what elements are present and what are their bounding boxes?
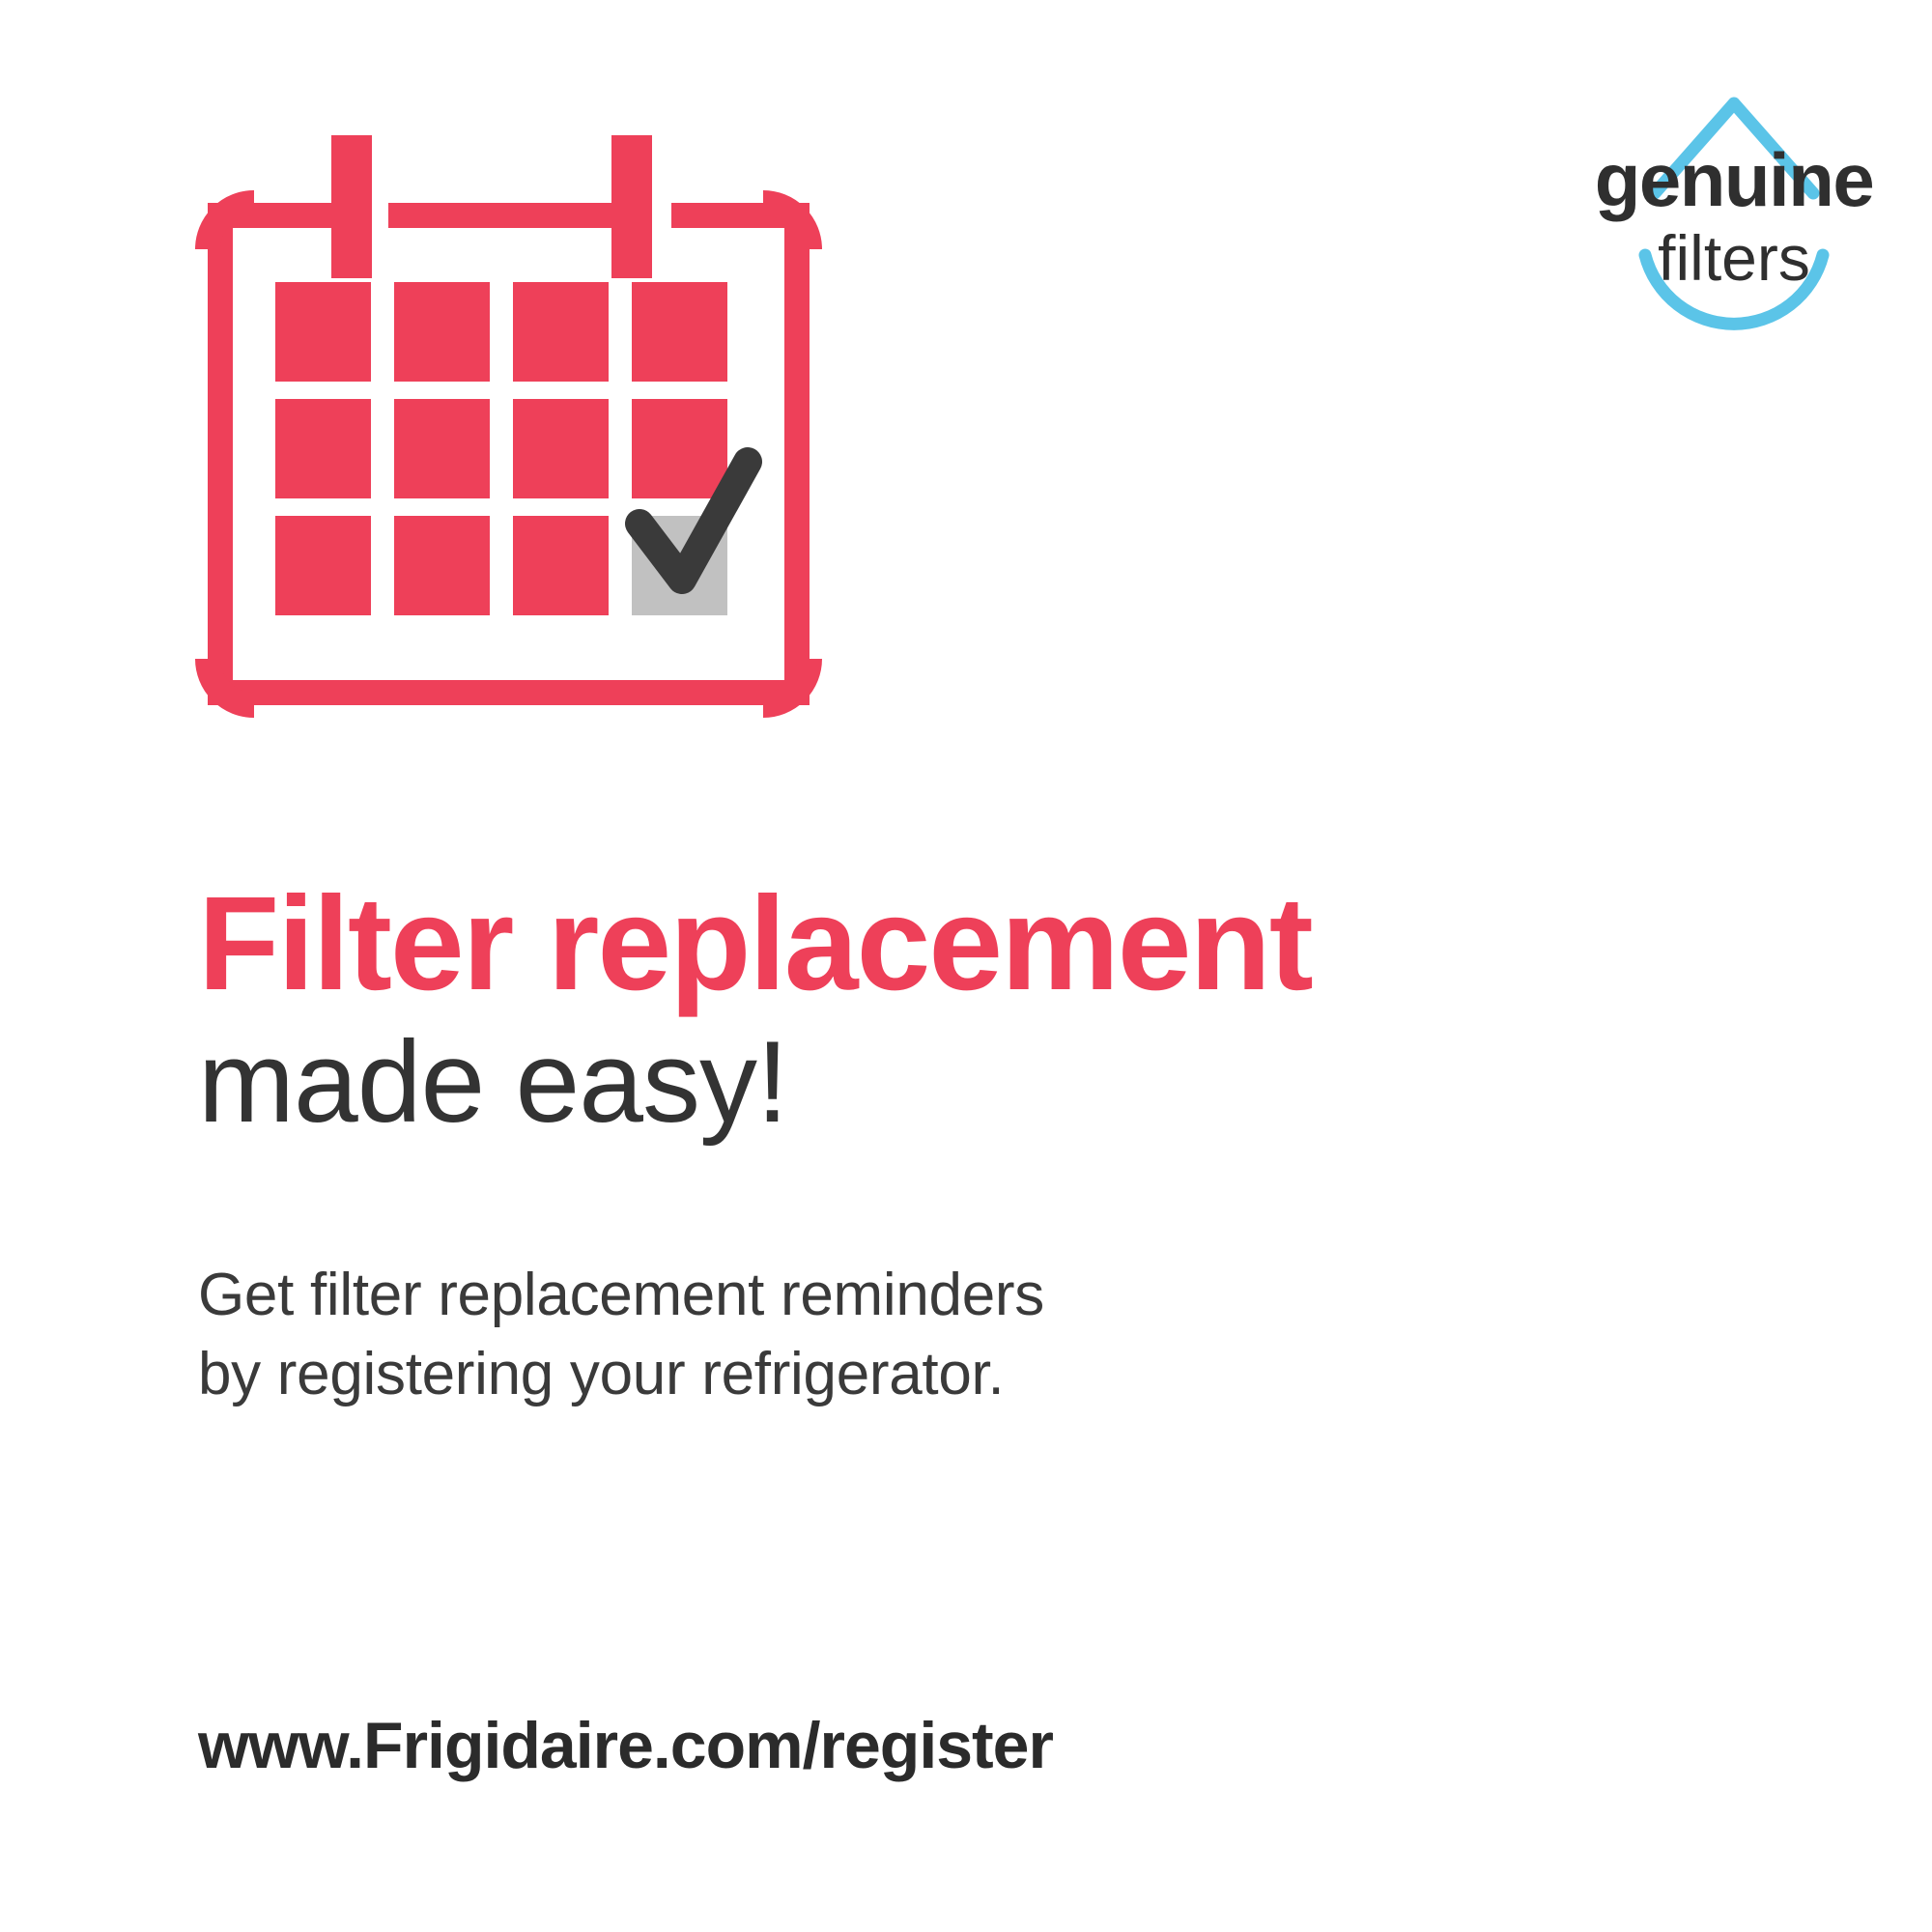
calendar-check-icon (184, 135, 840, 773)
brand-name-secondary: filters (1541, 226, 1927, 290)
body-copy: Get filter replacement reminders by regi… (198, 1256, 1647, 1414)
promo-poster: genuine filters Filter replacement made … (0, 0, 1932, 1932)
calendar-tab-right (611, 135, 652, 278)
headline: Filter replacement made easy! (198, 874, 1840, 1151)
body-copy-line-1: Get filter replacement reminders (198, 1256, 1647, 1335)
calendar-grid-row-2 (275, 399, 727, 498)
genuine-filters-logo: genuine filters (1541, 60, 1927, 340)
body-copy-line-2: by registering your refrigerator. (198, 1335, 1647, 1414)
headline-line-1: Filter replacement (198, 874, 1840, 1014)
register-url-link[interactable]: www.Frigidaire.com/register (198, 1708, 1053, 1783)
headline-line-2: made easy! (198, 1014, 1840, 1151)
calendar-grid-row-1 (275, 282, 727, 382)
brand-name-primary: genuine (1541, 142, 1927, 217)
calendar-tab-left (331, 135, 372, 278)
